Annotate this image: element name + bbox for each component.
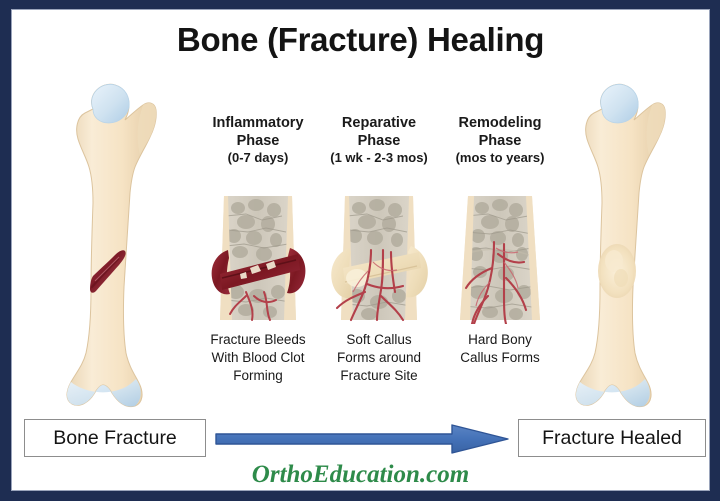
phase-duration: (0-7 days)	[193, 150, 323, 166]
phase-heading-remodeling: Remodeling Phase (mos to years)	[435, 115, 565, 166]
phase-heading-inflammatory: Inflammatory Phase (0-7 days)	[193, 115, 323, 166]
phase-panel-inflammatory	[206, 192, 310, 324]
phase-name: Reparative	[314, 115, 444, 133]
phase-panel-reparative	[327, 192, 431, 324]
phase-word: Phase	[193, 133, 323, 151]
phase-word: Phase	[435, 133, 565, 151]
caption-line: Forms around	[311, 349, 447, 367]
phase-caption-reparative: Soft Callus Forms around Fracture Site	[311, 331, 447, 385]
poster-canvas: Bone (Fracture) Healing	[11, 9, 710, 491]
caption-line: Fracture Bleeds	[190, 331, 326, 349]
fractured-femur-illustration	[47, 71, 177, 411]
page-title: Bone (Fracture) Healing	[11, 21, 710, 59]
poster-frame: Bone (Fracture) Healing	[0, 0, 720, 501]
caption-line: Forming	[190, 367, 326, 385]
phase-caption-remodeling: Hard Bony Callus Forms	[432, 331, 568, 367]
caption-line: Callus Forms	[432, 349, 568, 367]
phase-duration: (mos to years)	[435, 150, 565, 166]
end-label-box: Fracture Healed	[518, 419, 706, 457]
phase-caption-inflammatory: Fracture Bleeds With Blood Clot Forming	[190, 331, 326, 385]
caption-line: Fracture Site	[311, 367, 447, 385]
phase-panel-remodeling	[448, 192, 552, 324]
phase-duration: (1 wk - 2-3 mos)	[314, 150, 444, 166]
caption-line: Hard Bony	[432, 331, 568, 349]
phase-name: Inflammatory	[193, 115, 323, 133]
end-label-text: Fracture Healed	[542, 427, 682, 450]
caption-line: Soft Callus	[311, 331, 447, 349]
phase-word: Phase	[314, 133, 444, 151]
phase-name: Remodeling	[435, 115, 565, 133]
caption-line: With Blood Clot	[190, 349, 326, 367]
phase-heading-reparative: Reparative Phase (1 wk - 2-3 mos)	[314, 115, 444, 166]
healed-femur-illustration	[556, 71, 686, 411]
progression-arrow	[214, 424, 510, 454]
watermark: OrthoEducation.com	[11, 461, 710, 489]
start-label-text: Bone Fracture	[53, 427, 177, 450]
start-label-box: Bone Fracture	[24, 419, 206, 457]
